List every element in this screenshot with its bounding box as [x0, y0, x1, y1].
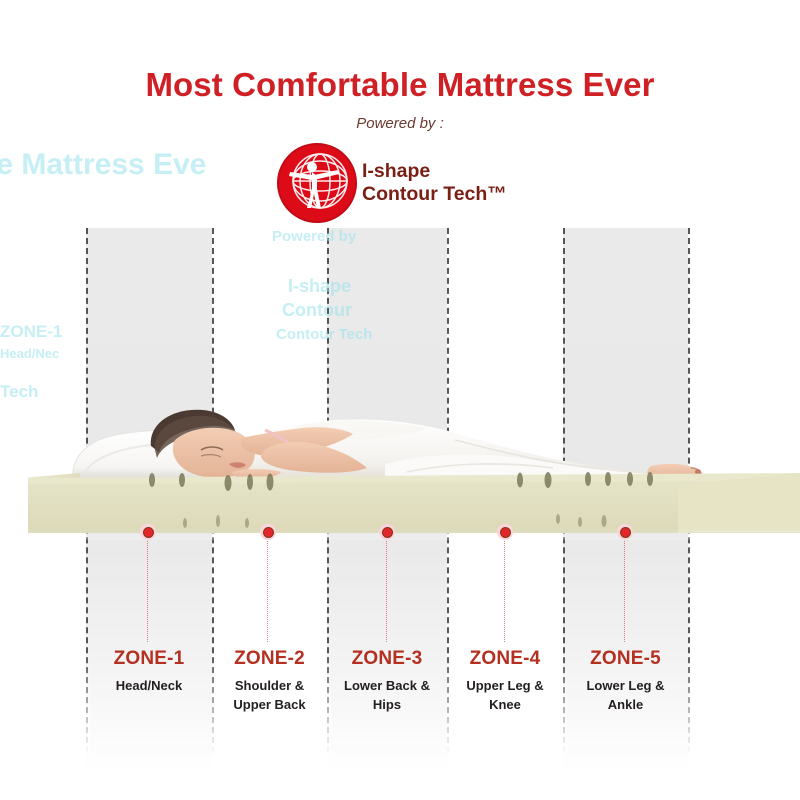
zone-label-4[interactable]: ZONE-4Upper Leg &Knee: [447, 648, 563, 715]
zone-description-2: Shoulder &Upper Back: [212, 677, 327, 715]
globe-person-icon: [276, 142, 358, 224]
zone-name-3: ZONE-3: [327, 648, 447, 670]
zone-label-5[interactable]: ZONE-5Lower Leg &Ankle: [563, 648, 688, 715]
zone-desc-line-2: Hips: [327, 696, 447, 715]
zone-desc-line-2: Upper Back: [212, 696, 327, 715]
zone-desc-line-1: Lower Leg &: [563, 677, 688, 696]
zone-marker-core: [382, 527, 393, 538]
zone-label-1[interactable]: ZONE-1Head/Neck: [86, 648, 212, 696]
ghost-text-8: Tech: [0, 382, 38, 402]
brand-name: I-shape Contour Tech™: [362, 160, 507, 205]
zone-description-1: Head/Neck: [86, 677, 212, 696]
zone-marker-core: [620, 527, 631, 538]
zone-leader-line-2: [267, 532, 268, 642]
ghost-text-2: Powered by: [272, 228, 356, 245]
zone-description-5: Lower Leg &Ankle: [563, 677, 688, 715]
zone-leader-line-4: [504, 532, 505, 642]
mattress-infographic: le Mattress EvePowered byI-shapeContourC…: [0, 0, 800, 800]
ghost-text-4: Contour: [282, 300, 352, 321]
zone-name-4: ZONE-4: [447, 648, 563, 670]
zone-marker-core: [143, 527, 154, 538]
zone-marker-dot-3[interactable]: [379, 524, 395, 540]
ghost-text-6: ZONE-1: [0, 322, 62, 342]
zone-marker-dot-5[interactable]: [617, 524, 633, 540]
zone-label-2[interactable]: ZONE-2Shoulder &Upper Back: [212, 648, 327, 715]
zone-desc-line-1: Lower Back &: [327, 677, 447, 696]
ghost-text-7: Head/Nec: [0, 346, 59, 361]
ghost-text-5: Contour Tech: [276, 326, 372, 343]
zone-marker-dot-1[interactable]: [140, 524, 156, 540]
zone-marker-core: [500, 527, 511, 538]
zone-desc-line-1: Head/Neck: [86, 677, 212, 696]
ghost-text-3: I-shape: [288, 276, 351, 297]
zone-name-1: ZONE-1: [86, 648, 212, 670]
zone-description-3: Lower Back &Hips: [327, 677, 447, 715]
brand-line-1: I-shape: [362, 160, 507, 183]
zone-leader-line-3: [386, 532, 387, 642]
zone-desc-line-2: Ankle: [563, 696, 688, 715]
zone-desc-line-1: Shoulder &: [212, 677, 327, 696]
zone-marker-dot-4[interactable]: [497, 524, 513, 540]
zone-marker-dot-2[interactable]: [260, 524, 276, 540]
ghost-text-1: le Mattress Eve: [0, 148, 206, 182]
page-title: Most Comfortable Mattress Ever: [0, 66, 800, 104]
brand-line-2: Contour Tech™: [362, 183, 507, 206]
zone-description-4: Upper Leg &Knee: [447, 677, 563, 715]
zone-leader-line-1: [147, 532, 148, 642]
zone-marker-core: [263, 527, 274, 538]
zone-desc-line-2: Knee: [447, 696, 563, 715]
powered-by-label: Powered by :: [0, 115, 800, 132]
zone-name-2: ZONE-2: [212, 648, 327, 670]
zone-label-3[interactable]: ZONE-3Lower Back &Hips: [327, 648, 447, 715]
brand-block: I-shape Contour Tech™: [276, 142, 507, 224]
zone-name-5: ZONE-5: [563, 648, 688, 670]
foam-mattress: [0, 455, 800, 540]
zone-desc-line-1: Upper Leg &: [447, 677, 563, 696]
zone-leader-line-5: [624, 532, 625, 642]
